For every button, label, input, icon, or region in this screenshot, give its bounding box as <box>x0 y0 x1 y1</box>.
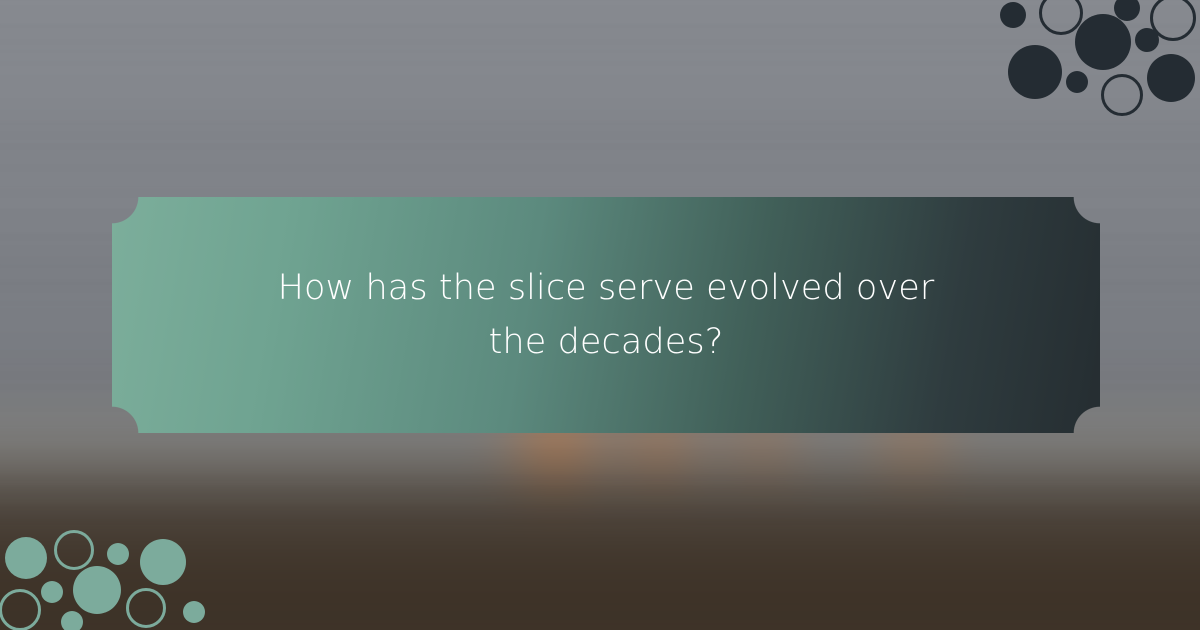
decorative-dot <box>73 566 121 614</box>
dot-cluster-top-right <box>985 0 1200 110</box>
question-text: How has the slice serve evolved over the… <box>246 261 966 370</box>
decorative-dot <box>1114 0 1140 21</box>
decorative-dot <box>41 581 63 603</box>
decorative-dot <box>0 589 41 630</box>
decorative-dot <box>126 588 166 628</box>
decorative-dot <box>140 539 186 585</box>
decorative-dot <box>54 530 94 570</box>
decorative-dot <box>61 611 83 630</box>
decorative-dot <box>1147 54 1195 102</box>
decorative-dot <box>1008 45 1062 99</box>
decorative-dot <box>5 537 47 579</box>
poster-canvas: How has the slice serve evolved over the… <box>0 0 1200 630</box>
decorative-dot <box>1075 14 1131 70</box>
decorative-dot <box>183 601 205 623</box>
decorative-dot <box>1101 74 1143 116</box>
decorative-dot <box>107 543 129 565</box>
decorative-dot <box>1150 0 1196 41</box>
decorative-dot <box>1000 2 1026 28</box>
question-card: How has the slice serve evolved over the… <box>112 197 1100 433</box>
dot-cluster-bottom-left <box>0 520 215 630</box>
decorative-dot <box>1066 71 1088 93</box>
